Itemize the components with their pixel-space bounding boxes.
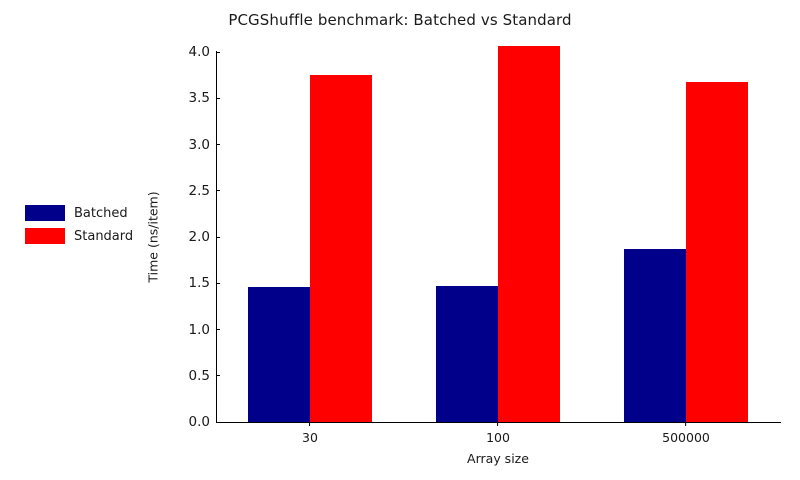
y-tick-mark <box>216 237 220 238</box>
legend-item-standard: Standard <box>25 228 133 244</box>
y-axis-label: Time (ns/item) <box>146 191 161 282</box>
x-tick-mark <box>497 422 498 426</box>
legend-label-standard: Standard <box>74 229 133 244</box>
x-axis-label: Array size <box>216 451 780 466</box>
legend-label-batched: Batched <box>74 206 128 221</box>
chart-figure: PCGShuffle benchmark: Batched vs Standar… <box>0 0 800 480</box>
y-tick-label: 4.0 <box>189 44 216 60</box>
bar-standard-30 <box>310 75 372 422</box>
bar-batched-500000 <box>624 249 686 422</box>
x-tick: 500000 <box>662 422 710 445</box>
y-tick-mark <box>216 375 220 376</box>
y-tick: 4.0 <box>189 44 216 60</box>
y-tick-mark <box>216 422 220 423</box>
y-tick-mark <box>216 283 220 284</box>
legend-swatch-standard <box>25 228 65 244</box>
y-tick-label: 2.5 <box>189 183 216 199</box>
y-tick: 1.0 <box>189 322 216 338</box>
bar-batched-30 <box>248 287 310 422</box>
bar-standard-500000 <box>686 82 748 422</box>
y-tick-label: 3.0 <box>189 137 216 153</box>
x-tick-mark <box>686 422 687 426</box>
y-tick: 0.5 <box>189 368 216 384</box>
y-tick-mark <box>216 329 220 330</box>
legend-item-batched: Batched <box>25 205 133 221</box>
y-tick-label: 3.5 <box>189 90 216 106</box>
x-tick-label: 500000 <box>662 430 710 445</box>
x-tick: 100 <box>486 422 510 445</box>
y-tick-label: 0.0 <box>189 414 216 430</box>
x-tick: 30 <box>302 422 318 445</box>
y-tick-mark <box>216 144 220 145</box>
y-tick: 3.5 <box>189 90 216 106</box>
chart-title: PCGShuffle benchmark: Batched vs Standar… <box>0 11 800 29</box>
y-tick-label: 2.0 <box>189 229 216 245</box>
bar-standard-100 <box>498 46 560 422</box>
y-tick: 3.0 <box>189 137 216 153</box>
y-tick-label: 0.5 <box>189 368 216 384</box>
x-tick-mark <box>310 422 311 426</box>
y-tick-mark <box>216 52 220 53</box>
bar-batched-100 <box>436 286 498 422</box>
x-tick-label: 100 <box>486 430 510 445</box>
x-tick-label: 30 <box>302 430 318 445</box>
y-tick-mark <box>216 190 220 191</box>
y-tick: 0.0 <box>189 414 216 430</box>
y-tick: 2.0 <box>189 229 216 245</box>
y-tick-mark <box>216 98 220 99</box>
y-tick-label: 1.0 <box>189 322 216 338</box>
legend-swatch-batched <box>25 205 65 221</box>
y-tick-label: 1.5 <box>189 275 216 291</box>
plot-area: 0.00.51.01.52.02.53.03.54.0 30100500000 <box>216 52 780 422</box>
chart-legend: BatchedStandard <box>25 205 133 244</box>
y-tick: 2.5 <box>189 183 216 199</box>
y-tick: 1.5 <box>189 275 216 291</box>
